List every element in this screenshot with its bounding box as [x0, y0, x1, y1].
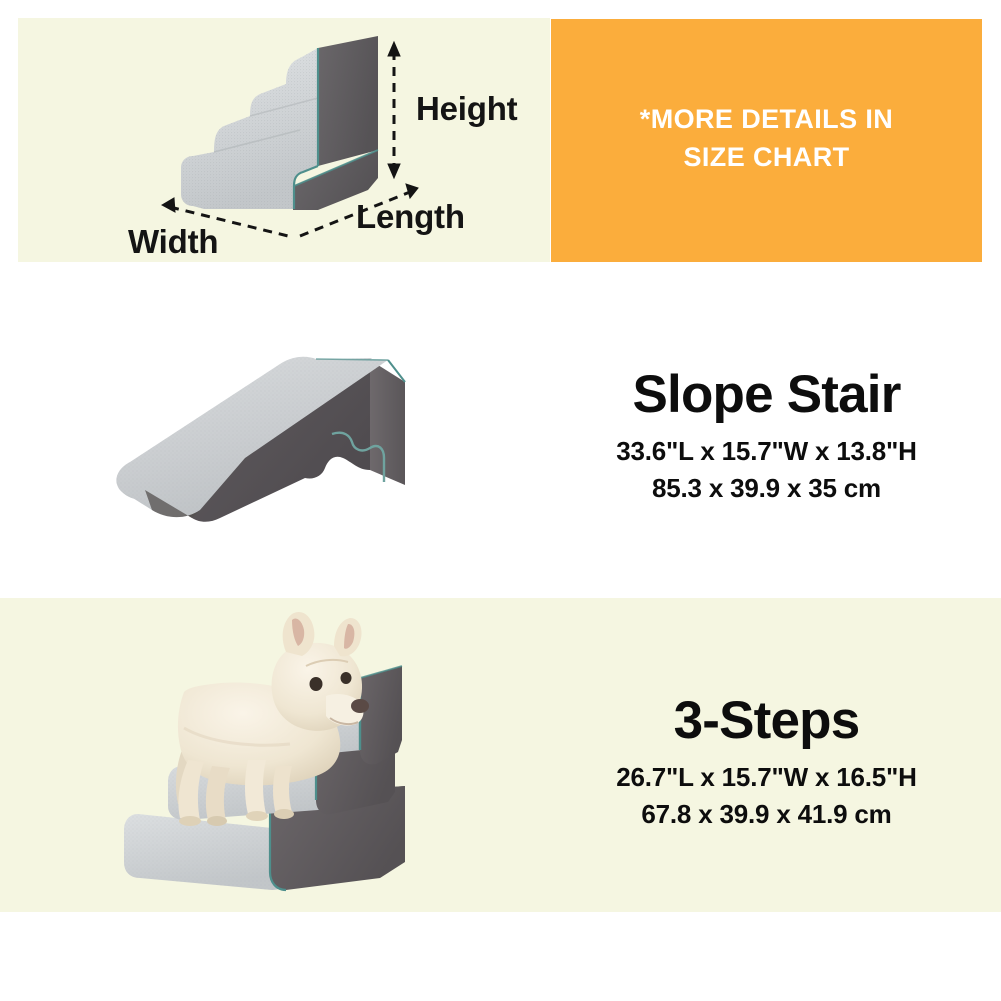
- three-steps-info: 3-Steps 26.7"L x 15.7"W x 16.5"H 67.8 x …: [551, 692, 982, 833]
- dimension-diagram-svg: [18, 18, 550, 262]
- three-steps-dimensions-inches: 26.7"L x 15.7"W x 16.5"H: [551, 759, 982, 796]
- three-steps-with-dog-svg: [120, 600, 550, 912]
- size-chart-callout-text: *MORE DETAILS IN SIZE CHART: [551, 100, 982, 177]
- callout-line-2: SIZE CHART: [551, 138, 982, 176]
- dimension-diagram: Height Length Width: [18, 18, 550, 262]
- height-label: Height: [416, 90, 517, 128]
- slope-stair-info: Slope Stair 33.6"L x 15.7"W x 13.8"H 85.…: [551, 366, 982, 507]
- slope-stair-dimensions-cm: 85.3 x 39.9 x 35 cm: [551, 470, 982, 507]
- callout-line-1: *MORE DETAILS IN: [551, 100, 982, 138]
- three-steps-product-image: [120, 600, 550, 912]
- infographic-page: Height Length Width *MORE DETAILS IN SIZ…: [0, 0, 1001, 1001]
- width-label: Width: [128, 223, 218, 261]
- three-steps-title: 3-Steps: [551, 692, 982, 749]
- slope-stair-title: Slope Stair: [551, 366, 982, 423]
- slope-stair-product-image: [100, 330, 520, 560]
- height-dimension-arrow: [388, 42, 400, 178]
- three-steps-dimensions-cm: 67.8 x 39.9 x 41.9 cm: [551, 796, 982, 833]
- slope-stair-svg: [100, 330, 520, 560]
- length-label: Length: [356, 198, 465, 236]
- slope-stair-dimensions-inches: 33.6"L x 15.7"W x 13.8"H: [551, 433, 982, 470]
- step-block-graphic: [181, 36, 378, 210]
